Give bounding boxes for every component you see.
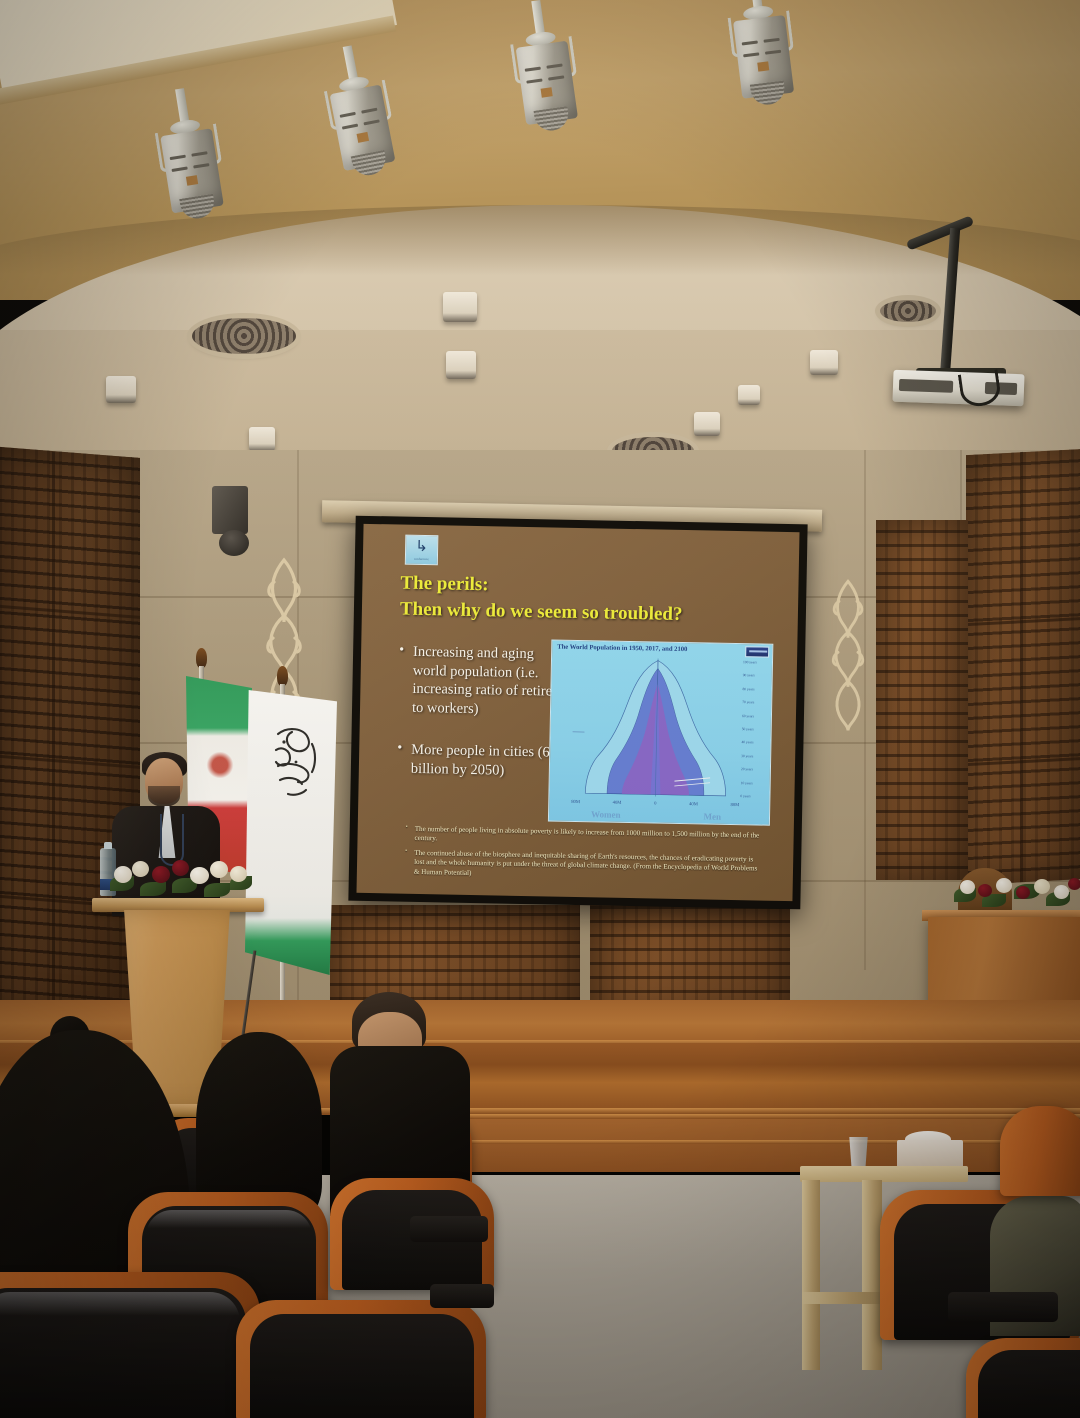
ceiling-downlight-2 [446, 351, 476, 379]
slide-bullet-item: Increasing and aging world population (i… [398, 643, 569, 720]
flag-finial-left [196, 648, 207, 668]
ceiling-downlight-3 [106, 376, 136, 403]
acoustic-wood-panel-behind-head-table [876, 520, 968, 880]
chart-age-tick: 70 years [742, 700, 769, 705]
podium-flowers [106, 852, 254, 904]
slide-footnote-item: The continued abuse of the biosphere and… [405, 849, 761, 884]
chart-x-tick: 80M [730, 802, 739, 810]
chart-age-tick: 50 years [742, 727, 769, 732]
chair-armrest [948, 1292, 1058, 1322]
chart-x-tick: 40M [613, 800, 622, 808]
chart-age-tick: 30 years [741, 754, 768, 759]
wall-speaker-dome [219, 530, 249, 556]
ceiling-downlight-1 [443, 292, 477, 322]
chart-source-badge [745, 646, 769, 657]
spotlight-body [733, 15, 794, 99]
chart-x-tick: 40M [689, 801, 698, 809]
chart-age-tick: 100 years [743, 660, 770, 665]
chart-plot-area [571, 657, 742, 798]
side-table-top [800, 1166, 968, 1182]
flag-finial-right [277, 666, 288, 686]
wall-speaker-box [212, 486, 248, 534]
ceiling-downlight-6 [694, 412, 720, 436]
chart-age-tick: 0 years [740, 794, 767, 799]
ceiling-downlight-4 [249, 427, 275, 451]
population-pyramid-chart: The World Population in 1950, 2017, and … [548, 639, 773, 825]
chart-age-tick: 10 years [741, 781, 768, 786]
conference-hall-photo: ↳ conference The perils: Then why do we … [0, 0, 1080, 1418]
slide-logo: ↳ conference [405, 535, 439, 566]
audience-chair-pad [978, 1350, 1080, 1418]
side-table-leg-right [862, 1180, 882, 1370]
side-table-leg-left [802, 1180, 820, 1370]
acoustic-wood-panel-left [0, 446, 140, 1028]
ceiling-air-vent-3 [880, 300, 936, 322]
side-table-shelf [802, 1292, 882, 1304]
slide-bullet-item: More people in cities (6.2 billion by 20… [397, 741, 568, 781]
spotlight-body [516, 41, 578, 125]
chart-age-axis: 100 years 90 years 80 years 70 years 60 … [740, 660, 770, 798]
chart-label-men: Men [703, 811, 721, 821]
projection-screen: ↳ conference The perils: Then why do we … [348, 516, 807, 910]
chart-age-tick: 60 years [742, 714, 769, 719]
audience-chair-rear-right[interactable] [1000, 1106, 1080, 1196]
chart-age-tick: 20 years [741, 767, 768, 772]
ceiling-downlight-8 [738, 385, 760, 405]
slide-logo-subtext: conference [414, 556, 429, 560]
audience-chair-sheen [0, 1292, 240, 1326]
chart-age-tick: 80 years [742, 687, 769, 692]
wall-ornament-right [828, 576, 868, 734]
institution-flag-emblem [262, 718, 322, 804]
slide-footnote-item: The number of people living in absolute … [405, 825, 761, 851]
spotlight-lens [750, 81, 786, 107]
chart-label-women: Women [591, 809, 621, 820]
spotlight-lens [534, 106, 571, 133]
acoustic-wood-panel-right [966, 449, 1080, 885]
chart-title: The World Population in 1950, 2017, and … [557, 644, 742, 655]
chair-armrest [430, 1284, 494, 1308]
iran-flag-emblem [206, 752, 234, 778]
ceiling-air-vent-1 [192, 318, 296, 354]
chart-age-tick: 90 years [743, 674, 770, 679]
spotlight-lens [179, 194, 216, 221]
slide-logo-mark: ↳ [415, 539, 428, 554]
audience-chair-sheen [146, 1210, 312, 1236]
head-table-flowers [952, 872, 1080, 914]
projected-slide: ↳ conference The perils: Then why do we … [356, 524, 799, 901]
slide-bullet-list: Increasing and aging world population (i… [396, 643, 569, 806]
ceiling-downlight-5 [810, 350, 838, 375]
chair-armrest [410, 1216, 488, 1242]
speaker-beard [148, 786, 180, 807]
slide-footnote-list: The number of people living in absolute … [405, 825, 762, 889]
chart-x-tick: 80M [571, 799, 580, 807]
audience-chair-pad [250, 1314, 474, 1418]
slide-title: The perils: Then why do we seem so troub… [400, 571, 771, 629]
chart-x-tick: 0 [654, 800, 656, 808]
ceiling-spotlight-4 [714, 0, 810, 118]
chart-age-tick: 40 years [741, 740, 768, 745]
spotlight-lens [351, 150, 389, 178]
